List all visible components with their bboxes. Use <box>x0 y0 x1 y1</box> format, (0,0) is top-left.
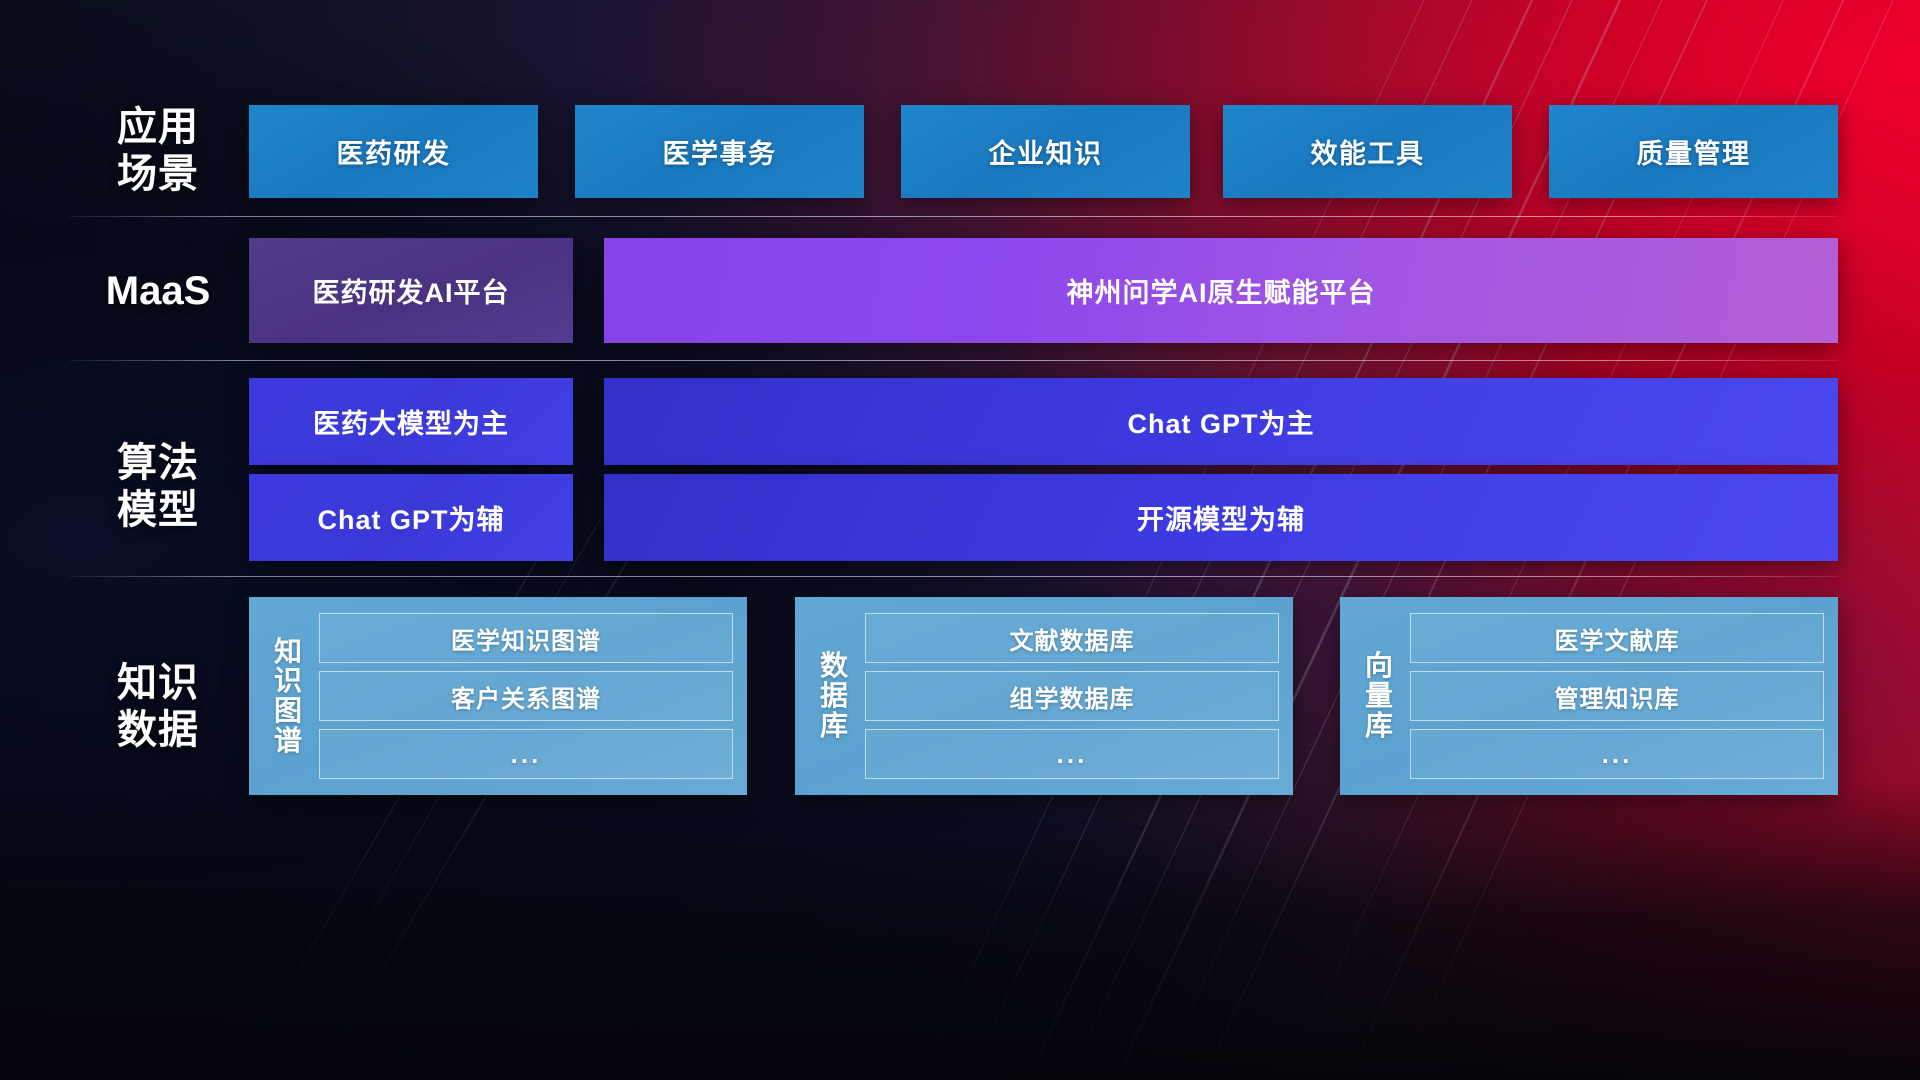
title-char: 库 <box>1365 711 1393 741</box>
scenario-box-pharma-rd[interactable]: 医药研发 <box>249 105 538 198</box>
knowledge-item-omics-database[interactable]: 组学数据库 <box>865 671 1279 721</box>
knowledge-item-more[interactable]: ... <box>319 729 733 779</box>
knowledge-card-item-list: 文献数据库 组学数据库 ... <box>865 609 1279 783</box>
title-char: 向 <box>1365 651 1393 681</box>
row-label-line: 算法 <box>72 440 244 487</box>
row-label-line: 知识 <box>72 660 244 707</box>
row-label-line: 模型 <box>72 487 244 534</box>
title-char: 数 <box>820 651 848 681</box>
knowledge-item-medical-literature-store[interactable]: 医学文献库 <box>1410 613 1824 663</box>
maas-box-pharma-ai-platform[interactable]: 医药研发AI平台 <box>249 238 573 343</box>
maas-box-shenzhou-wenxue-platform[interactable]: 神州问学AI原生赋能平台 <box>604 238 1838 343</box>
knowledge-item-customer-relation-graph[interactable]: 客户关系图谱 <box>319 671 733 721</box>
scenario-box-quality-management[interactable]: 质量管理 <box>1549 105 1838 198</box>
knowledge-card-database[interactable]: 数 据 库 文献数据库 组学数据库 ... <box>795 597 1293 795</box>
knowledge-item-more[interactable]: ... <box>865 729 1279 779</box>
row-label-line: 场景 <box>72 151 244 198</box>
knowledge-item-medical-knowledge-graph[interactable]: 医学知识图谱 <box>319 613 733 663</box>
knowledge-card-title-vertical: 向 量 库 <box>1348 651 1410 740</box>
title-char: 图 <box>274 696 302 726</box>
row-label-line: MaaS <box>72 268 244 315</box>
knowledge-item-literature-database[interactable]: 文献数据库 <box>865 613 1279 663</box>
model-box-pharma-llm-primary[interactable]: 医药大模型为主 <box>249 378 573 465</box>
row-label-line: 数据 <box>72 707 244 754</box>
row-label-knowledge-data: 知识 数据 <box>72 660 244 754</box>
model-box-chatgpt-primary[interactable]: Chat GPT为主 <box>604 378 1838 465</box>
knowledge-item-more[interactable]: ... <box>1410 729 1824 779</box>
title-char: 谱 <box>274 726 302 756</box>
scenario-box-enterprise-knowledge[interactable]: 企业知识 <box>901 105 1190 198</box>
knowledge-card-title-vertical: 知 识 图 谱 <box>257 637 319 756</box>
knowledge-card-knowledge-graph[interactable]: 知 识 图 谱 医学知识图谱 客户关系图谱 ... <box>249 597 747 795</box>
knowledge-card-item-list: 医学知识图谱 客户关系图谱 ... <box>319 609 733 783</box>
knowledge-card-title-vertical: 数 据 库 <box>803 651 865 740</box>
title-char: 识 <box>274 666 302 696</box>
title-char: 库 <box>820 711 848 741</box>
divider-row2-row3 <box>70 360 1838 361</box>
row-label-line: 应用 <box>72 104 244 151</box>
divider-row1-row2 <box>70 216 1838 217</box>
divider-row3-row4 <box>70 576 1838 577</box>
title-char: 据 <box>820 681 848 711</box>
title-char: 量 <box>1365 681 1393 711</box>
row-label-scenarios: 应用 场景 <box>72 104 244 198</box>
knowledge-item-management-knowledge-store[interactable]: 管理知识库 <box>1410 671 1824 721</box>
model-box-chatgpt-secondary[interactable]: Chat GPT为辅 <box>249 474 573 561</box>
model-box-opensource-secondary[interactable]: 开源模型为辅 <box>604 474 1838 561</box>
scenario-box-efficiency-tools[interactable]: 效能工具 <box>1223 105 1512 198</box>
title-char: 知 <box>274 637 302 667</box>
row-label-maas: MaaS <box>72 268 244 315</box>
knowledge-card-item-list: 医学文献库 管理知识库 ... <box>1410 609 1824 783</box>
row-label-algorithm-models: 算法 模型 <box>72 440 244 534</box>
knowledge-card-vector-store[interactable]: 向 量 库 医学文献库 管理知识库 ... <box>1340 597 1838 795</box>
scenario-box-medical-affairs[interactable]: 医学事务 <box>575 105 864 198</box>
architecture-diagram: 应用 场景 医药研发 医学事务 企业知识 效能工具 质量管理 MaaS 医药研发… <box>0 0 1920 1080</box>
